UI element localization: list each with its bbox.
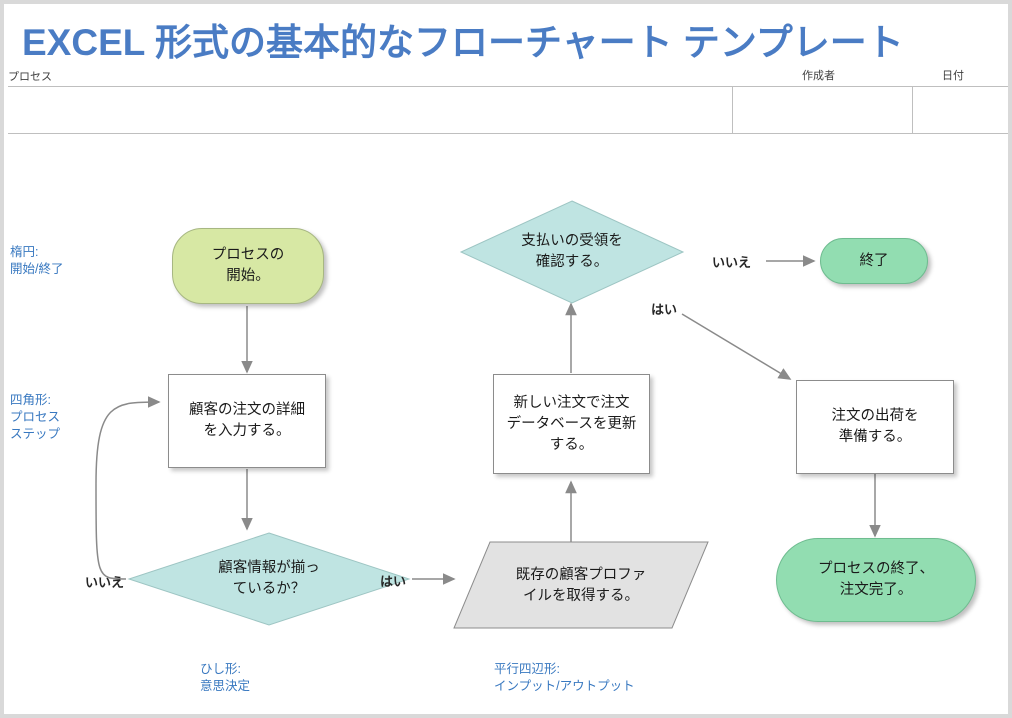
flowchart-canvas: プロセスの 開始。 顧客の注文の詳細 を入力する。 顧客情報が揃っ ているか？ … <box>4 144 1008 714</box>
process-input[interactable] <box>8 87 733 133</box>
node-update-database-label: 新しい注文で注文 データベースを更新 する。 <box>494 375 649 473</box>
edge-label-decision1-no: いいえ <box>85 572 124 591</box>
node-decision-payment[interactable]: 支払いの受領を 確認する。 <box>458 198 686 306</box>
node-retrieve-profile-label: 既存の顧客プロファ イルを取得する。 <box>452 540 710 632</box>
node-prepare-shipment[interactable]: 注文の出荷を 準備する。 <box>796 380 954 474</box>
node-terminate-label: 終了 <box>821 239 927 283</box>
node-process-complete-label: プロセスの終了、 注文完了。 <box>777 539 975 621</box>
node-enter-order-details-label: 顧客の注文の詳細 を入力する。 <box>169 375 325 467</box>
date-input[interactable] <box>913 87 1008 133</box>
node-retrieve-profile[interactable]: 既存の顧客プロファ イルを取得する。 <box>452 540 710 632</box>
template-page: EXCEL 形式の基本的なフローチャート テンプレート プロセス 作成者 日付 … <box>4 4 1008 714</box>
node-decision-customer-info-label: 顧客情報が揃っ ているか？ <box>125 529 413 629</box>
node-terminate[interactable]: 終了 <box>820 238 928 284</box>
column-header-date: 日付 <box>942 67 964 83</box>
author-input[interactable] <box>733 87 913 133</box>
edge-label-decision2-yes: はい <box>651 299 677 318</box>
node-decision-payment-label: 支払いの受領を 確認する。 <box>458 198 686 306</box>
column-header-process: プロセス <box>8 68 52 84</box>
edge-label-decision2-no: いいえ <box>712 252 751 271</box>
node-start[interactable]: プロセスの 開始。 <box>172 228 324 304</box>
column-header-author: 作成者 <box>802 67 835 83</box>
header-field-row <box>8 86 1008 134</box>
node-prepare-shipment-label: 注文の出荷を 準備する。 <box>797 381 953 473</box>
node-enter-order-details[interactable]: 顧客の注文の詳細 を入力する。 <box>168 374 326 468</box>
page-title: EXCEL 形式の基本的なフローチャート テンプレート <box>22 12 904 66</box>
node-update-database[interactable]: 新しい注文で注文 データベースを更新 する。 <box>493 374 650 474</box>
node-decision-customer-info[interactable]: 顧客情報が揃っ ているか？ <box>125 529 413 629</box>
node-process-complete[interactable]: プロセスの終了、 注文完了。 <box>776 538 976 622</box>
node-start-label: プロセスの 開始。 <box>173 229 323 303</box>
edge-label-decision1-yes: はい <box>380 571 406 590</box>
